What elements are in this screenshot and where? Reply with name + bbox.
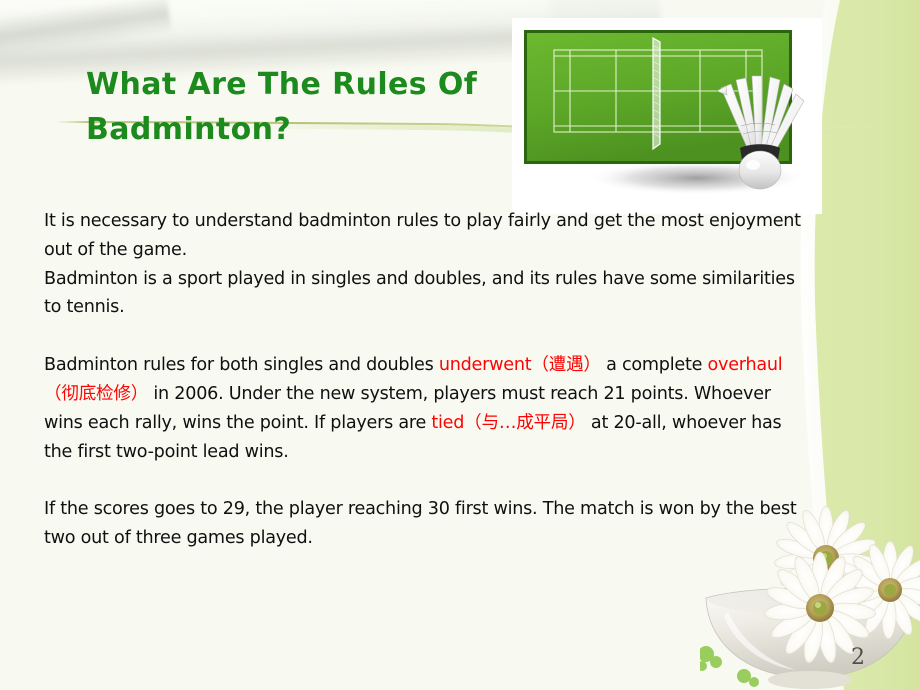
- highlight-overhaul: overhaul: [708, 355, 783, 375]
- page-number: 2: [851, 645, 865, 670]
- slide: What Are The Rules Of Badminton?: [0, 0, 920, 690]
- highlight-tied: tied: [431, 413, 464, 433]
- paragraph-4: If the scores goes to 29, the player rea…: [44, 495, 814, 553]
- run-normal: Badminton rules for both singles and dou…: [44, 355, 439, 375]
- slide-title: What Are The Rules Of Badminton?: [86, 62, 526, 152]
- badminton-court-image: [512, 18, 822, 214]
- paragraph-1: It is necessary to understand badminton …: [44, 207, 814, 265]
- highlight-underwent: underwent: [439, 355, 532, 375]
- paragraph-2: Badminton is a sport played in singles a…: [44, 265, 814, 323]
- run-normal: a complete: [601, 355, 708, 375]
- paragraph-2-text: Badminton is a sport played in singles a…: [44, 269, 795, 318]
- gloss-underwent: （遭遇）: [531, 355, 600, 375]
- paragraph-4-text: If the scores goes to 29, the player rea…: [44, 499, 797, 548]
- gloss-overhaul: （彻底检修）: [44, 384, 148, 404]
- court-net: [653, 38, 660, 149]
- paragraph-1-text: It is necessary to understand badminton …: [44, 211, 801, 260]
- gloss-tied: （与…成平局）: [464, 413, 585, 433]
- body-text: It is necessary to understand badminton …: [44, 207, 814, 553]
- paragraph-3: Badminton rules for both singles and dou…: [44, 351, 814, 466]
